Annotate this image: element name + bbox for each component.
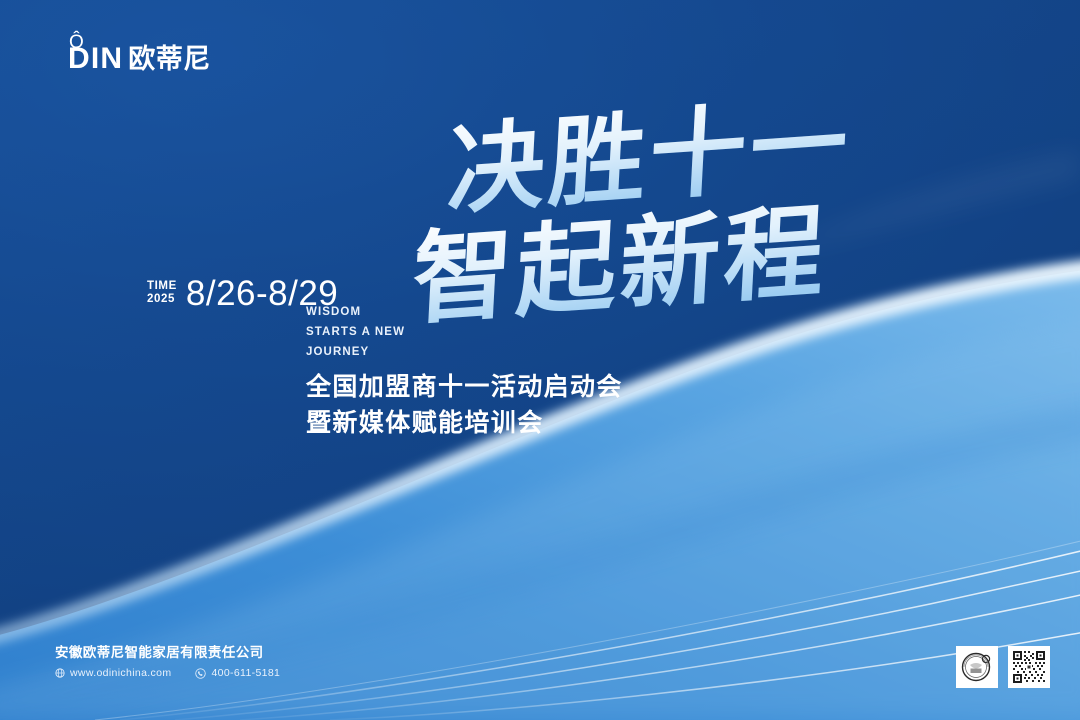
time-label: TIME 2025 <box>147 280 177 307</box>
logo-wordmark: Ô DIN <box>68 44 123 74</box>
subtitle-line-1: 全国加盟商十一活动启动会 <box>306 369 623 405</box>
phone-item[interactable]: 400-611-5181 <box>195 667 280 679</box>
phone-text: 400-611-5181 <box>211 667 280 679</box>
tagline-line-3: JOURNEY <box>306 342 405 362</box>
tagline-line-2: STARTS A NEW <box>306 322 405 342</box>
globe-icon <box>55 668 65 678</box>
phone-icon <box>195 668 206 679</box>
badge-group <box>956 646 1050 688</box>
poster-canvas: Ô DIN 欧蒂尼 决胜十一 智起新程 TIME 2025 8/26-8/29 <box>0 0 1080 720</box>
event-subtitle: 全国加盟商十一活动启动会 暨新媒体赋能培训会 <box>306 369 623 442</box>
website-item[interactable]: www.odinichina.com <box>55 667 171 679</box>
qr-code-badge[interactable] <box>1008 646 1050 688</box>
website-text: www.odinichina.com <box>70 667 171 679</box>
company-seal-badge[interactable] <box>956 646 998 688</box>
logo-chinese-name: 欧蒂尼 <box>128 46 211 73</box>
brand-logo: Ô DIN 欧蒂尼 <box>68 44 211 74</box>
english-tagline: WISDOM STARTS A NEW JOURNEY <box>306 302 405 362</box>
logo-circumflex-accent: Ô <box>69 33 85 52</box>
background-waves <box>0 0 1080 720</box>
time-label-top: TIME <box>147 280 177 292</box>
contact-row: www.odinichina.com 400-611-5181 <box>55 667 280 679</box>
company-name: 安徽欧蒂尼智能家居有限责任公司 <box>55 645 280 661</box>
time-label-year: 2025 <box>147 293 177 305</box>
tagline-line-1: WISDOM <box>306 302 405 322</box>
subtitle-line-2: 暨新媒体赋能培训会 <box>306 405 623 441</box>
footer-block: 安徽欧蒂尼智能家居有限责任公司 www.odinichina.com <box>55 645 280 679</box>
